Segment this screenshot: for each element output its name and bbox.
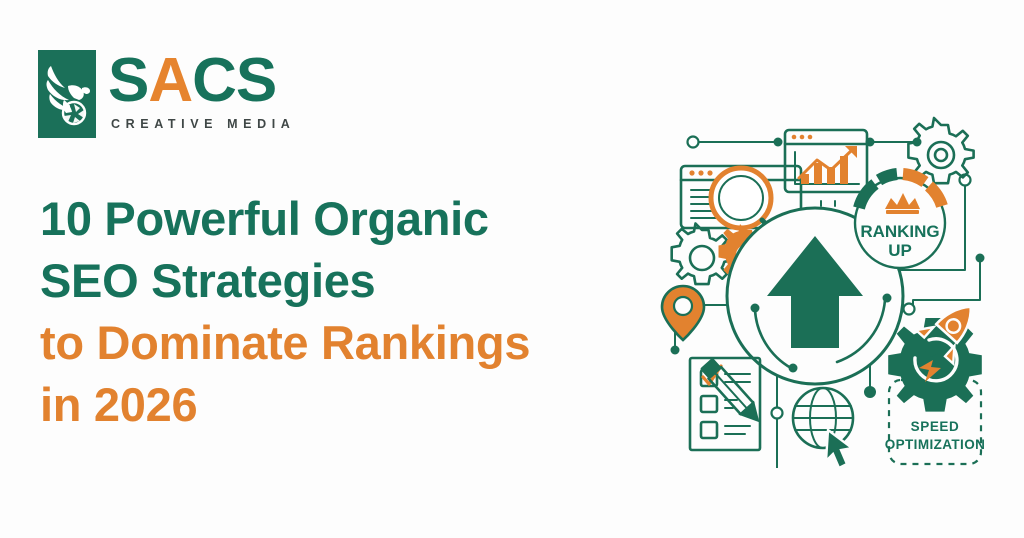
- page-title: 10 Powerful Organic SEO Strategies to Do…: [40, 188, 640, 436]
- seo-promo-banner: SACS CREATIVE MEDIA 10 Powerful Organic …: [0, 0, 1024, 538]
- ranking-up-badge: RANKING UP: [855, 174, 945, 268]
- ranking-badge-line1: RANKING: [860, 222, 939, 241]
- globe-cursor-icon: [793, 388, 853, 468]
- growth-chart-window-icon: [785, 130, 867, 192]
- seo-concept-illustration: .gr { stroke:#1b6f56; fill:none; stroke-…: [645, 100, 1020, 468]
- eagle-aperture-icon: [38, 50, 96, 138]
- brand-name-a: A: [148, 46, 192, 115]
- brand-wordmark: SACS CREATIVE MEDIA: [108, 50, 295, 131]
- checklist-pencil-icon: [690, 357, 764, 450]
- brand-name-s1: S: [108, 46, 148, 115]
- brand-name: SACS: [108, 52, 276, 111]
- brand-tagline: CREATIVE MEDIA: [108, 117, 295, 131]
- brand-logo[interactable]: SACS CREATIVE MEDIA: [38, 50, 295, 138]
- map-pin-icon: [662, 286, 704, 340]
- ranking-badge-line2: UP: [888, 241, 912, 260]
- headline-line-1: 10 Powerful Organic: [40, 188, 640, 250]
- speed-badge-line2: OPTIMIZATION: [885, 437, 986, 452]
- headline-line-4: in 2026: [40, 374, 640, 436]
- headline-line-3: to Dominate Rankings: [40, 312, 640, 374]
- brand-name-cs: CS: [192, 46, 276, 115]
- headline-line-2: SEO Strategies: [40, 250, 640, 312]
- speed-badge-line1: SPEED: [911, 419, 960, 434]
